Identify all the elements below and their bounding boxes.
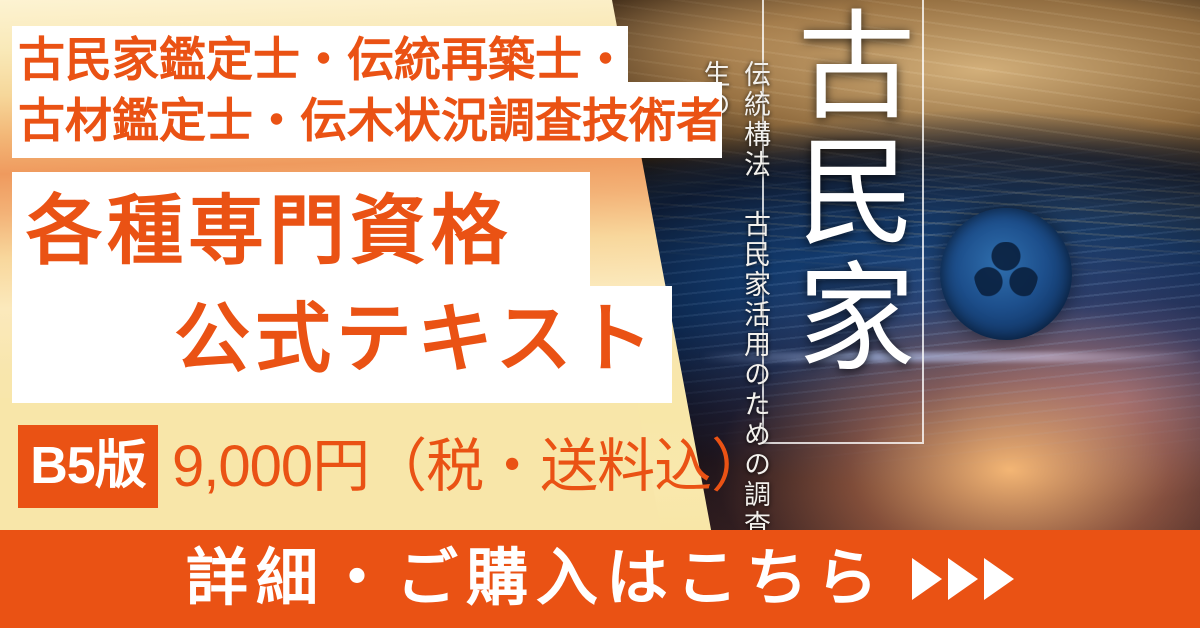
format-badge: B5版: [18, 425, 158, 508]
cta-arrows: [912, 558, 1014, 600]
triangle-right-icon: [984, 558, 1014, 600]
price-text: 9,000円（税・送料込）: [172, 428, 768, 506]
page-title: 各種専門資格 公式テキスト: [14, 178, 674, 394]
headline-line-2: 公式テキスト: [14, 286, 674, 394]
qualifications-line-1: 古民家鑑定士・伝統再築士・: [18, 33, 629, 86]
triangle-right-icon: [948, 558, 978, 600]
book-cover-title: 古民家: [768, 4, 914, 382]
qualifications-line-2: 古材鑑定士・伝木状況調査技術者: [18, 94, 723, 147]
qualifications-text: 古民家鑑定士・伝統再築士・ 古材鑑定士・伝木状況調査技術者: [18, 30, 718, 151]
headline-line-1: 各種専門資格: [14, 178, 674, 286]
promo-banner: 古民家 伝統構法 古民家活用のための調査と再生の 古民家鑑定士・伝統再築士・ 古…: [0, 0, 1200, 628]
cta-label: 詳細・ご購入はこちら: [186, 548, 886, 610]
cta-button[interactable]: 詳細・ご購入はこちら: [0, 530, 1200, 628]
family-crest-medallion-icon: [940, 208, 1072, 340]
triangle-right-icon: [912, 558, 942, 600]
